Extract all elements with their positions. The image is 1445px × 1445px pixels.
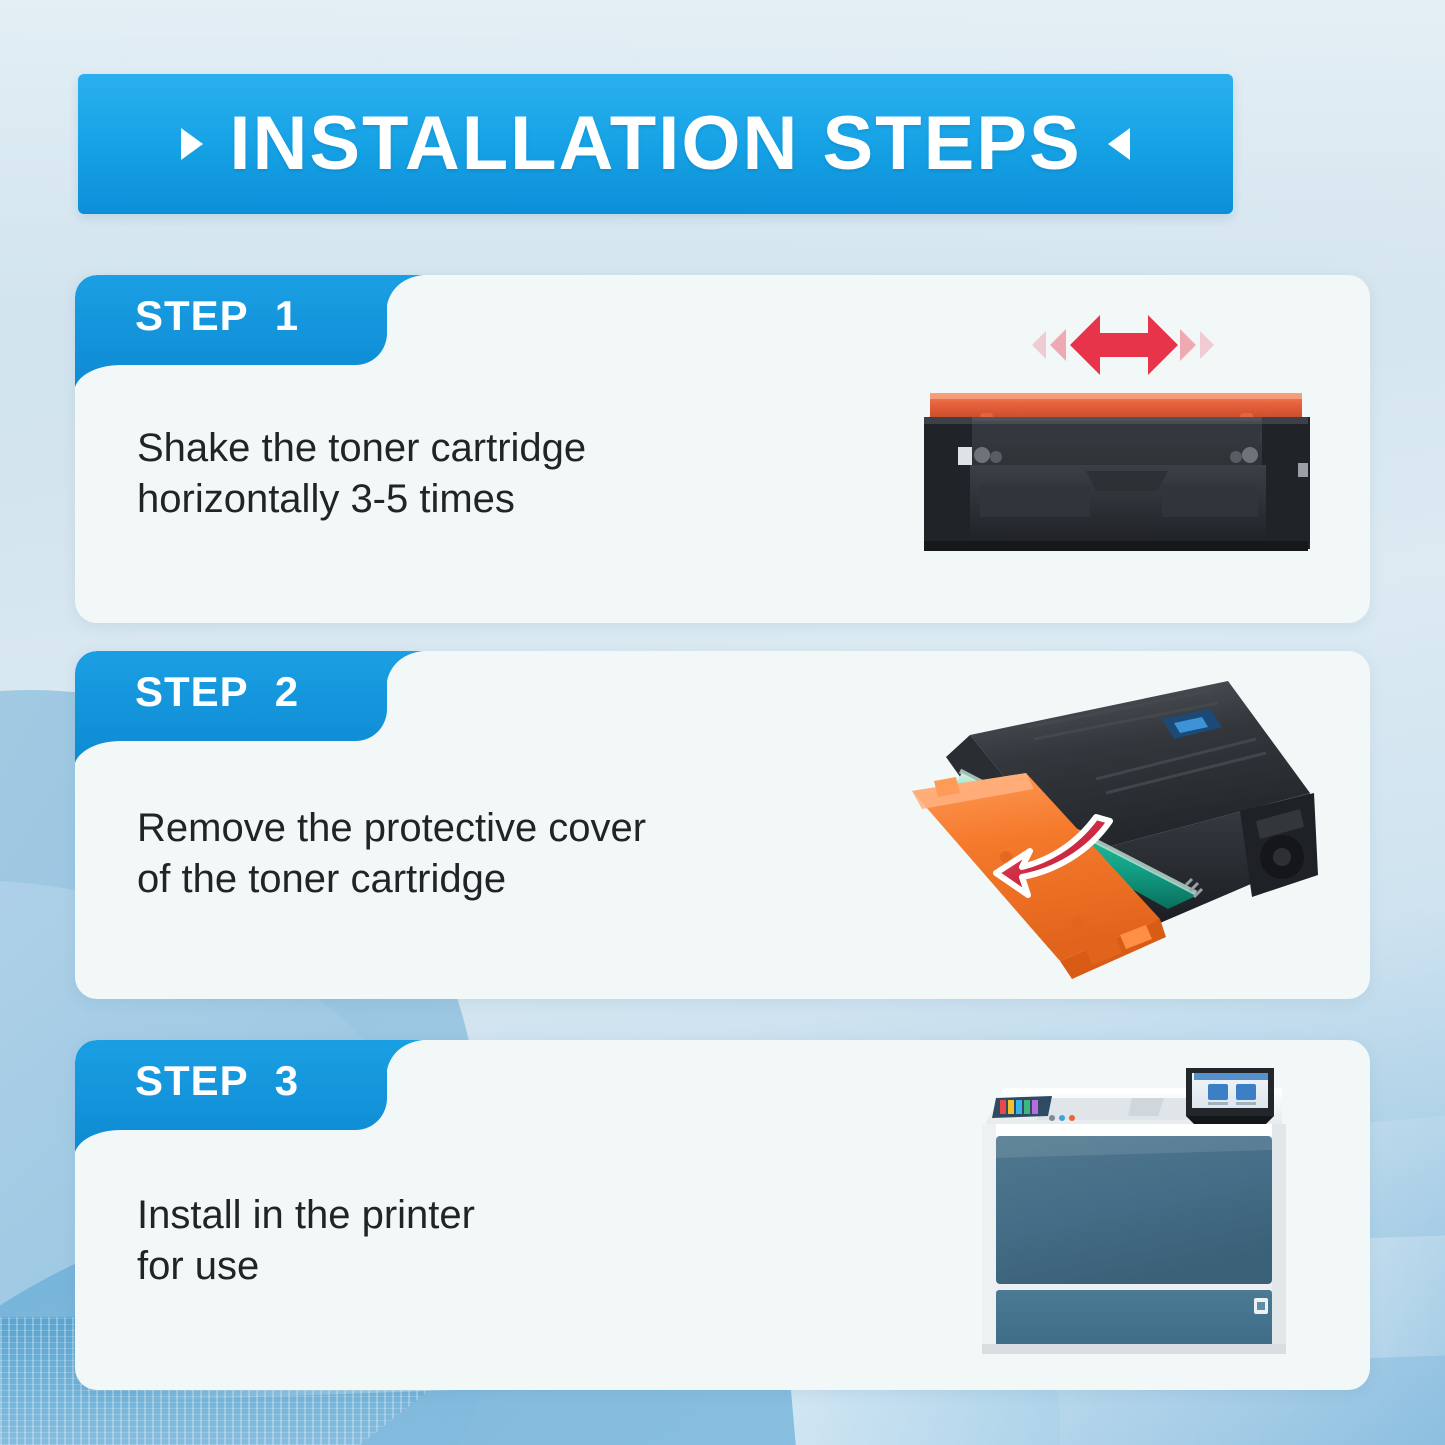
step-3-figure	[850, 1040, 1370, 1390]
header-banner: INSTALLATION STEPS	[78, 74, 1233, 214]
step-2-body: Remove the protective cover of the toner…	[137, 803, 837, 905]
step-card-3: STEP3 Install in the printer for use	[75, 1040, 1370, 1390]
step-1-description: Shake the toner cartridge horizontally 3…	[137, 423, 837, 525]
step-tab-3-text: STEP3	[135, 1060, 299, 1102]
step-number-2: 2	[275, 668, 299, 715]
step-1-body: Shake the toner cartridge horizontally 3…	[137, 423, 837, 525]
step-word-2: STEP	[135, 668, 249, 715]
step-tab-1: STEP1	[75, 275, 425, 387]
step-tab-2-text: STEP2	[135, 671, 299, 713]
step-card-1: STEP1 Shake the toner cartridge horizont…	[75, 275, 1370, 623]
step-3-body: Install in the printer for use	[137, 1190, 837, 1292]
step-number-3: 3	[275, 1057, 299, 1104]
step-card-2: STEP2 Remove the protective cover of the…	[75, 651, 1370, 999]
toner-cartridge-shake-illustration	[900, 287, 1330, 587]
step-2-description: Remove the protective cover of the toner…	[137, 803, 837, 905]
step-word-1: STEP	[135, 292, 249, 339]
triangle-right-icon	[181, 128, 203, 160]
step-tab-2: STEP2	[75, 651, 425, 763]
toner-remove-cover-illustration	[910, 661, 1340, 991]
step-2-figure	[850, 651, 1370, 999]
laser-printer-illustration	[952, 1054, 1322, 1384]
page-title: INSTALLATION STEPS	[229, 106, 1081, 182]
triangle-left-icon	[1108, 128, 1130, 160]
step-number-1: 1	[275, 292, 299, 339]
step-1-figure	[850, 275, 1370, 623]
step-word-3: STEP	[135, 1057, 249, 1104]
installation-steps-page: INSTALLATION STEPS STEP1 Shake the toner…	[0, 0, 1445, 1445]
step-tab-3: STEP3	[75, 1040, 425, 1152]
step-3-description: Install in the printer for use	[137, 1190, 837, 1292]
step-tab-1-text: STEP1	[135, 295, 299, 337]
